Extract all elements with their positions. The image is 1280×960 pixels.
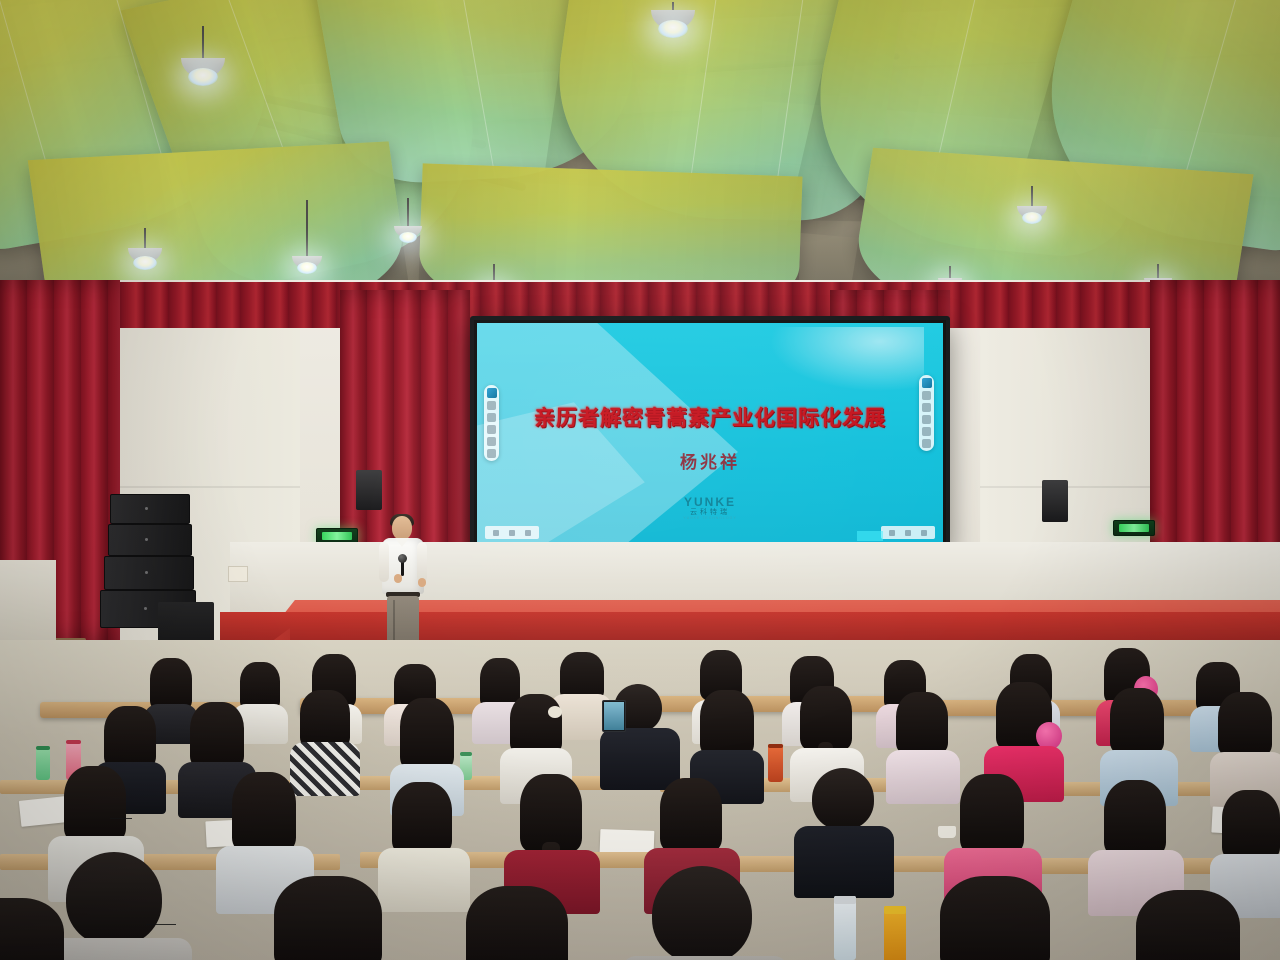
paper-cup[interactable] bbox=[938, 826, 956, 838]
water-bottle[interactable] bbox=[36, 746, 50, 780]
person-hair bbox=[960, 774, 1024, 854]
logo-tagline: YUNKE TECHNOLOGY bbox=[477, 517, 943, 521]
lecture-hall-photo: 亲历者解密青蒿素产业化国际化发展 杨兆祥 YUNKE 云科特瑞 YUNKE TE… bbox=[0, 0, 1280, 960]
person-hair bbox=[104, 706, 156, 768]
person-torso bbox=[886, 750, 960, 804]
person-hair bbox=[392, 782, 452, 854]
wall-outlet bbox=[228, 566, 248, 582]
exit-sign-right bbox=[1113, 520, 1155, 536]
more-icon[interactable] bbox=[922, 439, 931, 448]
wall-speaker-right bbox=[1042, 480, 1068, 522]
erase-icon[interactable] bbox=[922, 427, 931, 436]
slide-title: 亲历者解密青蒿素产业化国际化发展 bbox=[477, 402, 943, 432]
person-head bbox=[66, 852, 162, 946]
person-hair bbox=[1104, 780, 1166, 856]
desk-row[interactable] bbox=[320, 776, 640, 790]
person-torso bbox=[622, 956, 788, 960]
led-display-screen[interactable]: 亲历者解密青蒿素产业化国际化发展 杨兆祥 YUNKE 云科特瑞 YUNKE TE… bbox=[470, 316, 950, 550]
person-head bbox=[652, 866, 752, 960]
grid-icon[interactable] bbox=[922, 415, 931, 424]
back-icon[interactable] bbox=[493, 530, 499, 536]
back-icon[interactable] bbox=[889, 530, 895, 536]
screen-taskbar-right[interactable] bbox=[881, 526, 935, 539]
person-hair bbox=[1218, 692, 1272, 756]
person-hair bbox=[510, 694, 562, 754]
microphone-icon bbox=[398, 554, 407, 563]
menu-icon[interactable] bbox=[525, 530, 531, 536]
home-icon[interactable] bbox=[905, 530, 911, 536]
person-torso bbox=[794, 826, 894, 898]
person-hair bbox=[64, 766, 126, 842]
screen-surface: 亲历者解密青蒿素产业化国际化发展 杨兆祥 YUNKE 云科特瑞 YUNKE TE… bbox=[477, 323, 943, 543]
grid-icon[interactable] bbox=[487, 425, 496, 434]
person-hair bbox=[800, 686, 852, 750]
erase-icon[interactable] bbox=[487, 437, 496, 446]
person-hair bbox=[274, 876, 382, 960]
water-bottle[interactable] bbox=[834, 896, 856, 960]
undo-icon[interactable] bbox=[922, 391, 931, 400]
pen-icon[interactable] bbox=[487, 388, 497, 398]
screen-glare bbox=[766, 327, 924, 393]
presenter-head bbox=[392, 516, 412, 540]
person-hair bbox=[232, 772, 296, 852]
screen-highlight-region bbox=[857, 531, 883, 541]
drink-bottle[interactable] bbox=[884, 906, 906, 960]
person-hair bbox=[1222, 790, 1280, 860]
person-torso bbox=[378, 848, 470, 912]
shape-icon[interactable] bbox=[487, 413, 496, 422]
presenter-arm-right bbox=[417, 542, 427, 582]
person-torso-checkered bbox=[290, 742, 360, 796]
person-hair bbox=[896, 692, 948, 754]
smartphone-recording[interactable] bbox=[602, 700, 626, 732]
home-icon[interactable] bbox=[509, 530, 515, 536]
bench-row[interactable] bbox=[620, 696, 920, 712]
speaker-cabinet bbox=[110, 494, 190, 524]
slide-logo: YUNKE 云科特瑞 YUNKE TECHNOLOGY bbox=[477, 496, 943, 521]
person-hair bbox=[560, 652, 604, 700]
person-hair bbox=[190, 702, 244, 768]
undo-icon[interactable] bbox=[487, 401, 496, 410]
speaker-cabinet bbox=[104, 556, 194, 590]
water-bottle[interactable] bbox=[768, 744, 783, 782]
person-hair bbox=[466, 886, 568, 960]
pen-icon[interactable] bbox=[922, 378, 932, 388]
person-hair bbox=[1136, 890, 1240, 960]
speaker-cabinet bbox=[108, 524, 192, 556]
person-hair bbox=[520, 774, 582, 852]
person-torso bbox=[600, 728, 680, 790]
person-hair bbox=[300, 690, 350, 748]
annotation-toolbar-right[interactable] bbox=[919, 375, 934, 451]
ceiling bbox=[0, 0, 1280, 300]
person-hair bbox=[400, 698, 454, 770]
person-head bbox=[812, 768, 874, 830]
more-icon[interactable] bbox=[487, 449, 496, 458]
annotation-toolbar-left[interactable] bbox=[484, 385, 499, 461]
eyeglasses bbox=[110, 818, 132, 822]
eyeglasses bbox=[146, 924, 176, 928]
screen-taskbar-left[interactable] bbox=[485, 526, 539, 539]
person-hair bbox=[700, 690, 754, 756]
menu-icon[interactable] bbox=[921, 530, 927, 536]
person-hair bbox=[240, 662, 280, 710]
presenter-hand bbox=[418, 578, 426, 587]
person-hair bbox=[480, 658, 520, 708]
shape-icon[interactable] bbox=[922, 403, 931, 412]
wall-panel bbox=[0, 560, 56, 640]
presenter-arm-left bbox=[379, 542, 389, 582]
person-hair bbox=[660, 778, 722, 852]
person-hair bbox=[1110, 688, 1164, 754]
ceiling-drape bbox=[28, 141, 413, 300]
ceiling-drape bbox=[846, 148, 1253, 300]
hair-clip bbox=[548, 706, 562, 718]
person-hair bbox=[150, 658, 192, 710]
wall-speaker-left bbox=[356, 470, 382, 510]
person-hair bbox=[940, 876, 1050, 960]
slide-speaker-name: 杨兆祥 bbox=[477, 448, 943, 473]
audience-area bbox=[0, 640, 1280, 960]
